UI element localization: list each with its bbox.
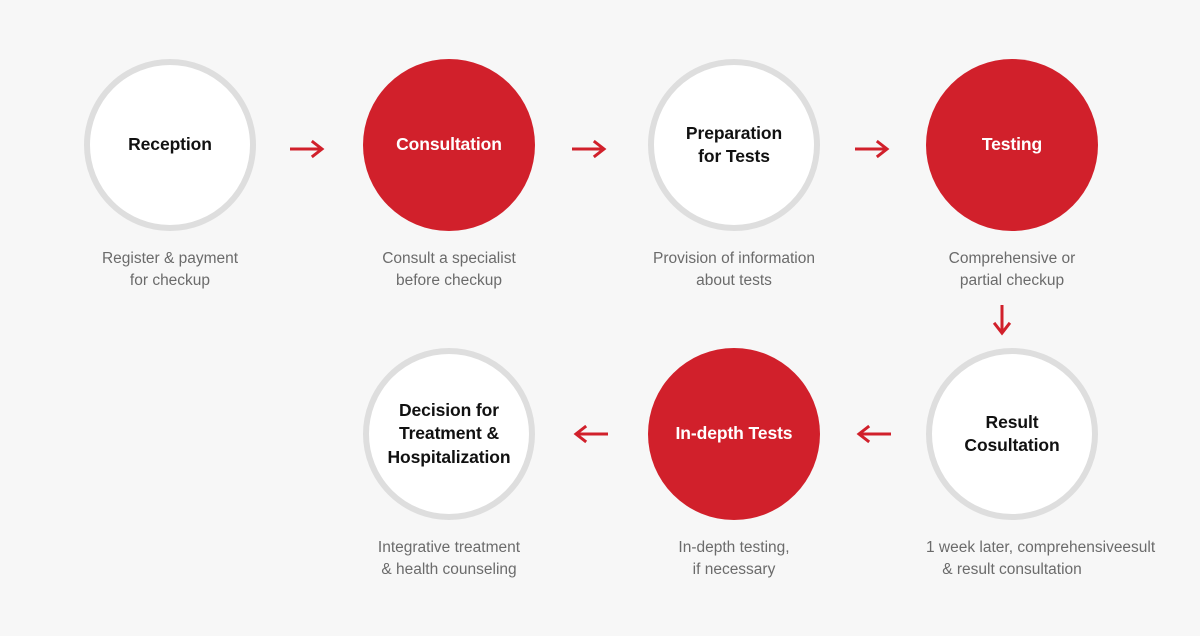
flow-node-caption-in-depth-tests: In-depth testing, if necessary xyxy=(648,537,820,582)
title-line: Decision for xyxy=(388,399,511,422)
flow-node-caption-preparation-for-tests: Provision of information about tests xyxy=(648,248,820,293)
flow-node-consultation[interactable]: Consultation Consult a specialist before… xyxy=(363,59,535,293)
arrow-right-icon-reception-to-consultation xyxy=(288,139,328,159)
arrow-right-icon-preparation-to-testing xyxy=(853,139,893,159)
flow-node-circle-result-consultation: Result Cosultation xyxy=(926,348,1098,520)
flow-node-title-testing: Testing xyxy=(974,133,1050,156)
title-line: Testing xyxy=(982,133,1042,156)
flow-node-result-consultation[interactable]: Result Cosultation 1 week later, compreh… xyxy=(926,348,1098,582)
flow-node-title-reception: Reception xyxy=(120,133,220,156)
caption-line: if necessary xyxy=(648,559,820,581)
caption-line: about tests xyxy=(648,270,820,292)
title-line: Consultation xyxy=(396,133,502,156)
flow-node-circle-testing: Testing xyxy=(926,59,1098,231)
flow-node-circle-decision-for-treatment: Decision for Treatment & Hospitalization xyxy=(363,348,535,520)
title-line: Reception xyxy=(128,133,212,156)
flow-node-caption-result-consultation: 1 week later, comprehensiveesult & resul… xyxy=(926,537,1098,582)
flow-node-preparation-for-tests[interactable]: Preparation for Tests Provision of infor… xyxy=(648,59,820,293)
caption-line: 1 week later, comprehensiveesult xyxy=(926,537,1098,559)
flow-node-circle-in-depth-tests: In-depth Tests xyxy=(648,348,820,520)
flow-node-testing[interactable]: Testing Comprehensive or partial checkup xyxy=(926,59,1098,293)
flow-node-title-consultation: Consultation xyxy=(388,133,510,156)
flow-node-reception[interactable]: Reception Register & payment for checkup xyxy=(84,59,256,293)
arrow-left-icon-in-depth-to-decision xyxy=(570,424,610,444)
flow-node-circle-preparation-for-tests: Preparation for Tests xyxy=(648,59,820,231)
title-line: Result xyxy=(964,411,1059,434)
caption-line: before checkup xyxy=(363,270,535,292)
arrow-down-icon-testing-to-result xyxy=(992,303,1012,339)
caption-line: for checkup xyxy=(84,270,256,292)
flow-node-circle-reception: Reception xyxy=(84,59,256,231)
caption-line: Provision of information xyxy=(648,248,820,270)
flow-node-title-decision-for-treatment: Decision for Treatment & Hospitalization xyxy=(380,399,519,469)
flow-node-caption-testing: Comprehensive or partial checkup xyxy=(926,248,1098,293)
flow-node-decision-for-treatment[interactable]: Decision for Treatment & Hospitalization… xyxy=(363,348,535,582)
caption-line: & result consultation xyxy=(926,559,1098,581)
flow-node-title-preparation-for-tests: Preparation for Tests xyxy=(678,122,790,169)
flow-node-caption-reception: Register & payment for checkup xyxy=(84,248,256,293)
title-line: Preparation xyxy=(686,122,782,145)
caption-line: Integrative treatment xyxy=(363,537,535,559)
title-line: Hospitalization xyxy=(388,446,511,469)
caption-line: Consult a specialist xyxy=(363,248,535,270)
title-line: Treatment & xyxy=(388,422,511,445)
process-flow-diagram: Reception Register & payment for checkup… xyxy=(0,0,1200,636)
arrow-left-icon-result-to-in-depth xyxy=(853,424,893,444)
flow-node-caption-decision-for-treatment: Integrative treatment & health counselin… xyxy=(363,537,535,582)
flow-node-title-in-depth-tests: In-depth Tests xyxy=(668,422,801,445)
flow-node-in-depth-tests[interactable]: In-depth Tests In-depth testing, if nece… xyxy=(648,348,820,582)
caption-line: In-depth testing, xyxy=(648,537,820,559)
flow-node-title-result-consultation: Result Cosultation xyxy=(956,411,1067,458)
caption-line: & health counseling xyxy=(363,559,535,581)
title-line: In-depth Tests xyxy=(676,422,793,445)
caption-line: Register & payment xyxy=(84,248,256,270)
flow-node-caption-consultation: Consult a specialist before checkup xyxy=(363,248,535,293)
flow-node-circle-consultation: Consultation xyxy=(363,59,535,231)
caption-line: partial checkup xyxy=(926,270,1098,292)
caption-line: Comprehensive or xyxy=(926,248,1098,270)
title-line: Cosultation xyxy=(964,434,1059,457)
arrow-right-icon-consultation-to-preparation xyxy=(570,139,610,159)
title-line: for Tests xyxy=(686,145,782,168)
